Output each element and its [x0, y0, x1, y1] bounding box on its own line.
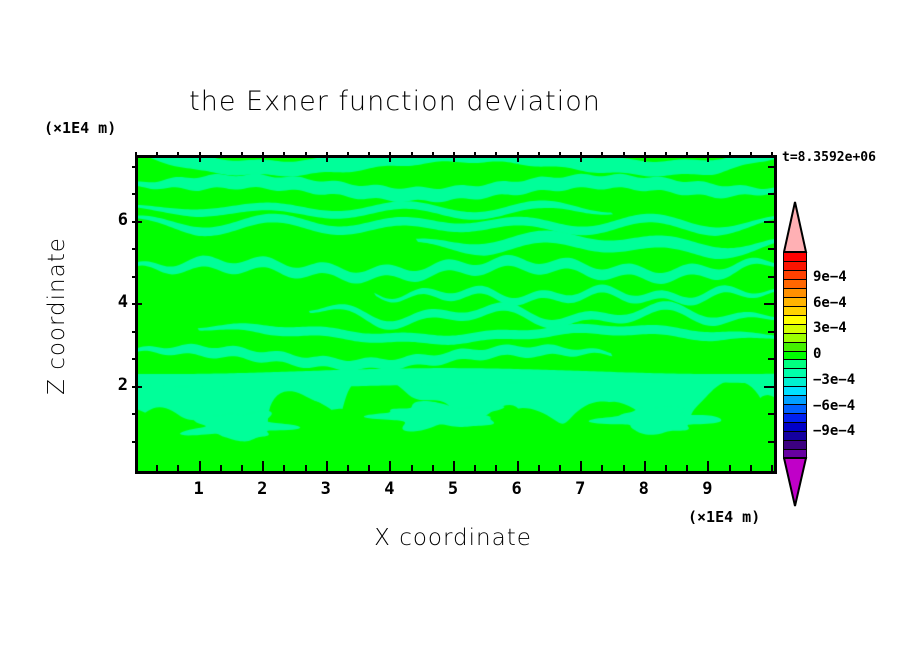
y-minor-tick	[132, 441, 138, 443]
x-minor-tick	[686, 465, 688, 471]
x-minor-tick	[771, 465, 773, 471]
x-minor-tick-top	[432, 152, 434, 158]
x-minor-tick-top	[750, 152, 752, 158]
x-minor-tick-top	[135, 152, 137, 158]
x-axis-title: X coordinate	[253, 525, 653, 551]
y-minor-tick-right	[768, 248, 774, 250]
x-minor-tick-top	[559, 152, 561, 158]
y-minor-tick-right	[768, 358, 774, 360]
x-minor-tick	[474, 465, 476, 471]
colorbar-tick-label: −6e−4	[813, 398, 855, 414]
colorbar: 9e−46e−43e−40−3e−4−6e−4−9e−4	[783, 200, 809, 510]
x-minor-tick	[283, 465, 285, 471]
x-major-tick-top	[453, 152, 455, 162]
x-minor-tick-top	[156, 152, 158, 158]
y-minor-tick-right	[768, 413, 774, 415]
x-minor-tick	[665, 465, 667, 471]
x-minor-tick	[729, 465, 731, 471]
x-minor-tick-top	[474, 152, 476, 158]
x-minor-tick	[623, 465, 625, 471]
y-minor-tick	[132, 248, 138, 250]
x-major-tick-top	[517, 152, 519, 162]
x-minor-tick	[220, 465, 222, 471]
x-tick-label: 7	[565, 479, 595, 499]
y-axis-unit-label: (×1E4 m)	[44, 119, 116, 137]
y-minor-tick	[132, 331, 138, 333]
x-tick-label: 6	[502, 479, 532, 499]
colorbar-tick-label: −3e−4	[813, 372, 855, 388]
x-minor-tick	[411, 465, 413, 471]
x-minor-tick-top	[771, 152, 773, 158]
y-minor-tick	[132, 358, 138, 360]
y-minor-tick	[132, 276, 138, 278]
x-minor-tick	[601, 465, 603, 471]
x-tick-label: 2	[247, 479, 277, 499]
x-minor-tick-top	[665, 152, 667, 158]
x-axis-unit-label: (×1E4 m)	[688, 508, 760, 526]
colorbar-tick-label: 3e−4	[813, 320, 847, 336]
y-major-tick-right	[764, 221, 774, 223]
x-major-tick	[644, 461, 646, 471]
x-minor-tick-top	[347, 152, 349, 158]
y-minor-tick-right	[768, 193, 774, 195]
x-major-tick-top	[326, 152, 328, 162]
x-minor-tick-top	[623, 152, 625, 158]
x-minor-tick-top	[177, 152, 179, 158]
x-major-tick	[199, 461, 201, 471]
y-tick-label: 2	[98, 375, 128, 395]
x-major-tick-top	[644, 152, 646, 162]
y-axis-title: Z coordinate	[44, 216, 70, 416]
x-major-tick	[580, 461, 582, 471]
y-major-tick-right	[764, 386, 774, 388]
x-minor-tick-top	[538, 152, 540, 158]
x-major-tick-top	[707, 152, 709, 162]
y-major-tick	[132, 221, 142, 223]
page-title: the Exner function deviation	[0, 86, 790, 117]
y-tick-label: 6	[98, 210, 128, 230]
x-minor-tick-top	[495, 152, 497, 158]
x-major-tick	[707, 461, 709, 471]
x-major-tick-top	[389, 152, 391, 162]
y-minor-tick	[132, 166, 138, 168]
y-minor-tick	[132, 193, 138, 195]
x-minor-tick-top	[368, 152, 370, 158]
x-minor-tick-top	[283, 152, 285, 158]
colorbar-tick-label: 6e−4	[813, 295, 847, 311]
x-tick-label: 3	[311, 479, 341, 499]
x-minor-tick-top	[241, 152, 243, 158]
y-minor-tick-right	[768, 331, 774, 333]
x-minor-tick	[750, 465, 752, 471]
colorbar-tick-label: 9e−4	[813, 269, 847, 285]
x-major-tick-top	[262, 152, 264, 162]
x-minor-tick-top	[220, 152, 222, 158]
x-minor-tick	[432, 465, 434, 471]
x-tick-label: 8	[629, 479, 659, 499]
y-minor-tick-right	[768, 441, 774, 443]
x-major-tick	[326, 461, 328, 471]
colorbar-tick-label: 0	[813, 346, 821, 362]
y-minor-tick	[132, 413, 138, 415]
contour-field	[138, 158, 774, 471]
x-tick-label: 5	[438, 479, 468, 499]
x-minor-tick	[559, 465, 561, 471]
x-minor-tick	[135, 465, 137, 471]
x-tick-label: 4	[374, 479, 404, 499]
time-annotation: t=8.3592e+06	[782, 150, 876, 165]
y-major-tick-right	[764, 303, 774, 305]
y-tick-label: 4	[98, 292, 128, 312]
x-minor-tick	[305, 465, 307, 471]
x-major-tick	[517, 461, 519, 471]
x-major-tick	[262, 461, 264, 471]
y-major-tick	[132, 303, 142, 305]
colorbar-tick-label: −9e−4	[813, 423, 855, 439]
x-minor-tick-top	[411, 152, 413, 158]
x-minor-tick	[495, 465, 497, 471]
x-major-tick-top	[580, 152, 582, 162]
x-tick-label: 1	[184, 479, 214, 499]
x-minor-tick	[347, 465, 349, 471]
x-minor-tick-top	[305, 152, 307, 158]
x-minor-tick	[538, 465, 540, 471]
x-tick-label: 9	[692, 479, 722, 499]
y-minor-tick-right	[768, 276, 774, 278]
x-major-tick	[453, 461, 455, 471]
x-minor-tick-top	[686, 152, 688, 158]
y-minor-tick-right	[768, 166, 774, 168]
x-minor-tick-top	[729, 152, 731, 158]
x-minor-tick	[177, 465, 179, 471]
x-minor-tick	[156, 465, 158, 471]
x-minor-tick	[241, 465, 243, 471]
x-minor-tick-top	[601, 152, 603, 158]
contour-plot-area	[135, 155, 777, 474]
x-major-tick-top	[199, 152, 201, 162]
x-major-tick	[389, 461, 391, 471]
x-minor-tick	[368, 465, 370, 471]
colorbar-band	[783, 449, 807, 459]
y-major-tick	[132, 386, 142, 388]
